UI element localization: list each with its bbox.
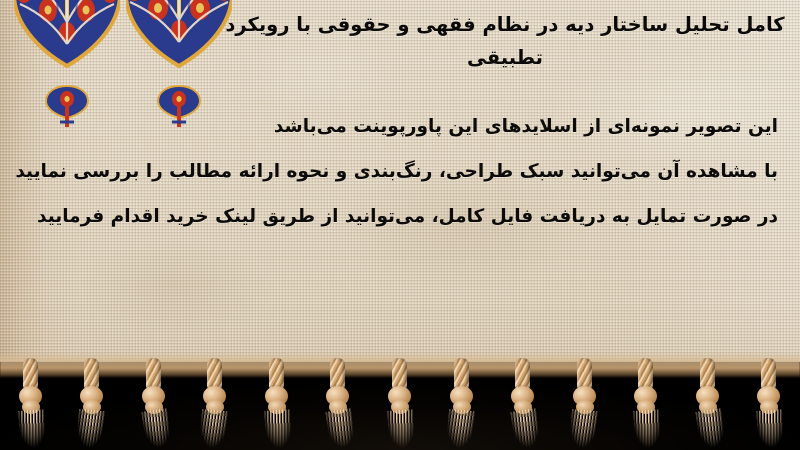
body-line-2: با مشاهده آن می‌توانید سبک طراحی، رنگ‌بن… — [22, 149, 778, 194]
body-line-1: این تصویر نمونه‌ای از اسلایدهای این پاور… — [22, 104, 778, 149]
slide-body: این تصویر نمونه‌ای از اسلایدهای این پاور… — [22, 104, 778, 239]
carpet-selvedge-edge — [0, 352, 800, 378]
body-line-3: در صورت تمایل به دریافت فایل کامل، می‌تو… — [22, 194, 778, 239]
slide-canvas: کامل تحلیل ساختار دیه در نظام فقهی و حقو… — [0, 0, 800, 450]
slide-title: کامل تحلیل ساختار دیه در نظام فقهی و حقو… — [220, 8, 790, 74]
